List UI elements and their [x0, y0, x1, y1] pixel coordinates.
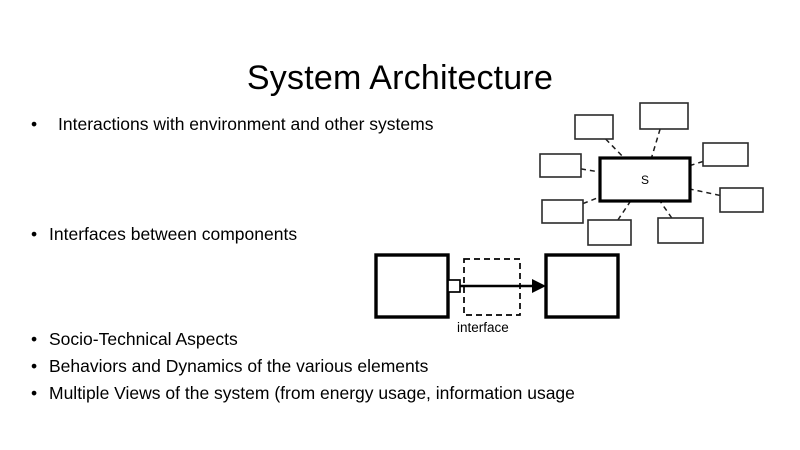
context-node-bottom-right: [658, 218, 703, 243]
context-node-right-upper: [703, 143, 748, 166]
interface-arrow-head-icon: [532, 279, 546, 293]
bullet-item-2: • Interfaces between components: [31, 224, 297, 244]
bullet-marker-icon: •: [31, 385, 49, 403]
bullet-label-5: Multiple Views of the system (from energ…: [49, 383, 575, 403]
page-title: System Architecture: [0, 59, 800, 98]
context-link-node-right-lower: [690, 189, 720, 195]
context-core-node: S: [600, 158, 690, 201]
interface-port-icon: [448, 280, 460, 292]
system-context-diagram: S: [520, 95, 800, 260]
interface-label: interface: [457, 320, 509, 335]
context-node-left-lower: [542, 200, 583, 223]
context-link-node-bottom-left: [618, 201, 631, 220]
bullet-label-4: Behaviors and Dynamics of the various el…: [49, 356, 428, 376]
slide-canvas: System Architecture • Interactions with …: [0, 0, 800, 450]
bullet-label-2: Interfaces between components: [49, 224, 297, 244]
context-link-node-right-upper: [690, 161, 703, 165]
bullet-item-1: • Interactions with environment and othe…: [31, 114, 433, 134]
bullet-item-4: • Behaviors and Dynamics of the various …: [31, 356, 428, 376]
context-link-node-left-upper: [581, 169, 600, 172]
context-node-right-lower: [720, 188, 763, 212]
context-node-top-center: [640, 103, 688, 129]
bullet-item-3: • Socio-Technical Aspects: [31, 329, 238, 349]
context-link-node-top-left: [606, 139, 624, 158]
bullet-marker-icon: •: [31, 358, 49, 376]
context-link-node-top-center: [651, 129, 660, 158]
bullet-item-5: • Multiple Views of the system (from ene…: [31, 383, 575, 403]
bullet-marker-icon: •: [31, 331, 49, 349]
context-core-label: S: [641, 173, 649, 187]
interface-left-component: [376, 255, 448, 317]
context-link-node-left-lower: [583, 197, 600, 204]
bullet-label-3: Socio-Technical Aspects: [49, 329, 238, 349]
bullet-marker-icon: •: [31, 226, 49, 244]
context-link-node-bottom-right: [660, 201, 672, 218]
context-node-bottom-left: [588, 220, 631, 245]
bullet-marker-icon: •: [31, 116, 49, 134]
interface-right-component: [546, 255, 618, 317]
context-node-top-left: [575, 115, 613, 139]
context-node-left-upper: [540, 154, 581, 177]
bullet-label-1: Interactions with environment and other …: [49, 114, 433, 134]
